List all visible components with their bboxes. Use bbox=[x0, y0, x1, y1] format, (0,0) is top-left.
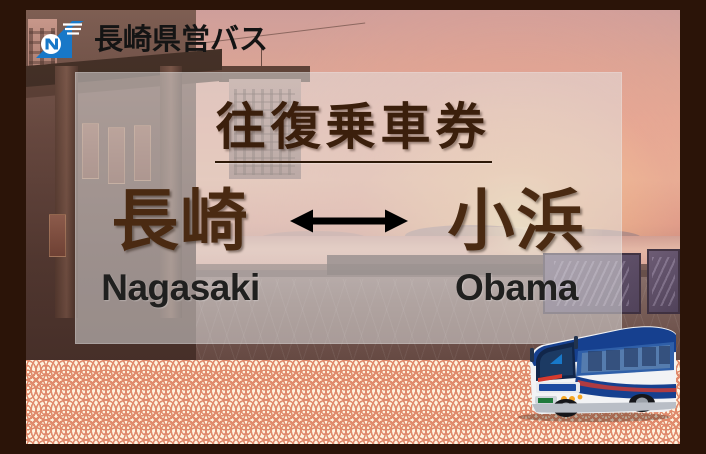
round-trip-ticket-card: 長崎県営バス 往復乗車券 長崎 Nagasaki 小浜 Obama bbox=[0, 0, 706, 454]
route-row: 長崎 Nagasaki 小浜 Obama bbox=[75, 188, 622, 306]
destination-name-en: Obama bbox=[455, 269, 578, 306]
origin-stop: 長崎 Nagasaki bbox=[76, 188, 286, 306]
ticket-header: 長崎県営バス bbox=[26, 10, 680, 68]
destination-stop: 小浜 Obama bbox=[412, 188, 622, 306]
title-underline bbox=[215, 161, 492, 163]
ticket-title: 往復乗車券 bbox=[216, 102, 491, 152]
signboard bbox=[647, 249, 680, 314]
origin-name-en: Nagasaki bbox=[101, 269, 260, 306]
nagasaki-kenei-bus-logo-icon bbox=[32, 18, 86, 60]
ticket-title-block: 往復乗車券 bbox=[26, 102, 680, 163]
origin-name-ja: 長崎 bbox=[112, 188, 250, 255]
route-connector bbox=[286, 206, 412, 236]
coach-bus-photo bbox=[502, 318, 678, 422]
double-arrow-icon bbox=[290, 206, 408, 236]
ticket-canvas: 長崎県営バス 往復乗車券 長崎 Nagasaki 小浜 Obama bbox=[26, 10, 680, 444]
destination-name-ja: 小浜 bbox=[448, 188, 586, 255]
hanging-banner bbox=[49, 214, 66, 257]
brand-name: 長崎県営バス bbox=[94, 25, 268, 54]
